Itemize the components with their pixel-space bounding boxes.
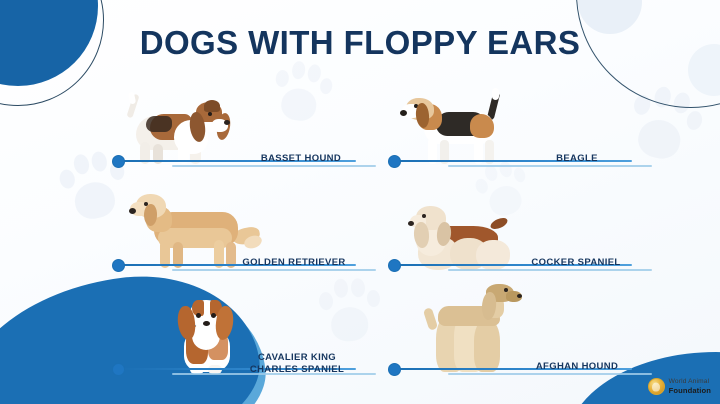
logo-name-bottom: Foundation: [669, 387, 711, 396]
foundation-badge-icon: [648, 378, 665, 395]
breed-card-golden-retriever[interactable]: GOLDEN RETRIEVER: [112, 182, 356, 279]
breed-card-beagle[interactable]: BEAGLE: [388, 78, 632, 175]
breed-card-cocker-spaniel[interactable]: COCKER SPANIEL: [388, 182, 632, 279]
breed-card-basset-hound[interactable]: BASSET HOUND: [112, 78, 356, 175]
breed-card-afghan-hound[interactable]: AFGHAN HOUND: [388, 286, 632, 383]
breed-label-beagle: BEAGLE: [522, 153, 632, 165]
rule-shadow: [172, 269, 376, 271]
cavalier-king-charles-spaniel-illustration: [164, 286, 248, 374]
bullet-dot: [388, 259, 401, 272]
bullet-dot: [388, 155, 401, 168]
breed-label-afghan-hound: AFGHAN HOUND: [522, 361, 632, 373]
bullet-dot: [112, 363, 125, 376]
rule-shadow: [448, 269, 652, 271]
rule-shadow: [448, 165, 652, 167]
breed-grid: BASSET HOUND: [112, 78, 632, 388]
logo-text-block: World Animal Foundation: [669, 378, 711, 395]
world-animal-foundation-logo[interactable]: World Animal Foundation: [648, 378, 711, 395]
breed-label-basset-hound: BASSET HOUND: [246, 153, 356, 165]
bullet-dot: [112, 155, 125, 168]
infographic-canvas: DOGS WITH FLOPPY EARS: [0, 0, 720, 404]
breed-card-cavalier-king-charles-spaniel[interactable]: CAVALIER KING CHARLES SPANIEL: [112, 286, 356, 383]
breed-label-cocker-spaniel: COCKER SPANIEL: [520, 257, 632, 269]
page-title: DOGS WITH FLOPPY EARS: [0, 24, 720, 62]
afghan-hound-illustration: [422, 278, 522, 374]
bullet-dot: [388, 363, 401, 376]
breed-label-cavalier-king-charles-spaniel: CAVALIER KING CHARLES SPANIEL: [238, 352, 356, 375]
rule-shadow: [172, 165, 376, 167]
bullet-dot: [112, 259, 125, 272]
breed-label-golden-retriever: GOLDEN RETRIEVER: [232, 257, 356, 269]
rule-shadow: [448, 373, 652, 375]
